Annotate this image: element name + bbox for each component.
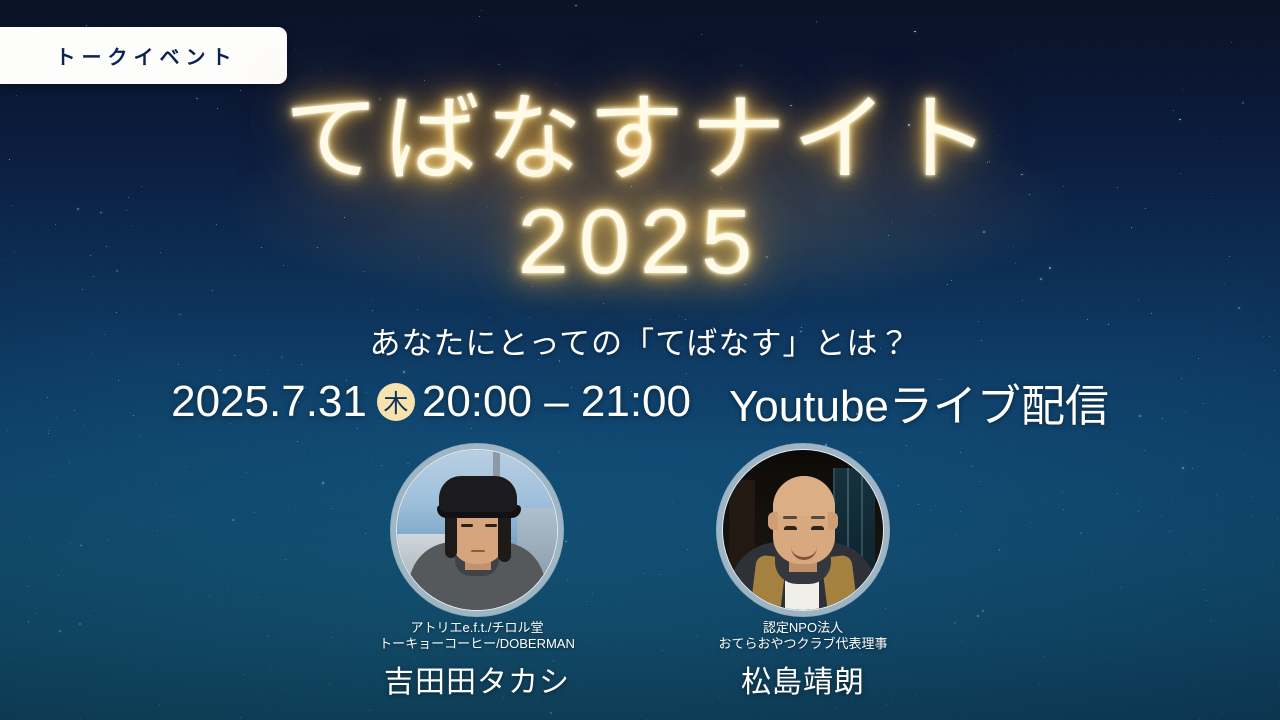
speaker-affiliation: 認定NPO法人 おてらおやつクラブ代表理事 (678, 620, 928, 653)
speaker-card: アトリエe.f.t./チロル堂 トーキョーコーヒー/DOBERMAN 吉田田タカ… (352, 450, 602, 701)
event-date: 2025.7.31 (171, 377, 367, 427)
speaker-name: 吉田田タカシ (352, 657, 602, 701)
event-title: てばなすナイト 2025 (0, 92, 1280, 288)
speaker-affiliation: アトリエe.f.t./チロル堂 トーキョーコーヒー/DOBERMAN (352, 620, 602, 653)
event-category-label: トークイベント (50, 41, 238, 70)
event-title-line-1: てばなすナイト (0, 92, 1280, 188)
speaker-affiliation-line-2: おてらおやつクラブ代表理事 (678, 636, 928, 652)
event-subtitle: あなたにとっての「てばなす」とは？ (0, 318, 1280, 363)
speaker-portrait-photo (397, 450, 557, 610)
speaker-affiliation-line-1: アトリエe.f.t./チロル堂 (352, 620, 602, 636)
event-schedule: 2025.7.31 木 20:00 – 21:00 Youtubeライブ配信 (0, 370, 1280, 434)
speaker-affiliation-line-1: 認定NPO法人 (678, 620, 928, 636)
speaker-portrait-photo (723, 450, 883, 610)
event-poster: トークイベント てばなすナイト 2025 あなたにとっての「てばなす」とは？ 2… (0, 0, 1280, 720)
portrait-illustration-man-with-cap (397, 450, 557, 610)
speaker-list: アトリエe.f.t./チロル堂 トーキョーコーヒー/DOBERMAN 吉田田タカ… (0, 450, 1280, 701)
event-broadcast-channel: Youtubeライブ配信 (729, 370, 1109, 434)
speaker-name: 松島靖朗 (678, 657, 928, 701)
event-title-line-2: 2025 (0, 196, 1280, 288)
weekday-badge: 木 (377, 383, 415, 421)
speaker-card: 認定NPO法人 おてらおやつクラブ代表理事 松島靖朗 (678, 450, 928, 701)
event-category-badge: トークイベント (0, 27, 287, 84)
speaker-affiliation-line-2: トーキョーコーヒー/DOBERMAN (352, 636, 602, 652)
portrait-illustration-monk (723, 450, 883, 610)
event-time-range: 20:00 – 21:00 (422, 377, 691, 427)
